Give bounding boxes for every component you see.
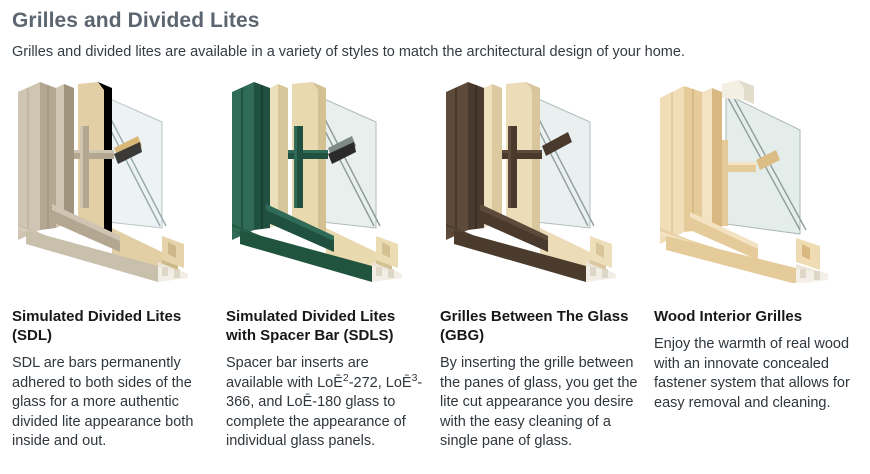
grilles-page: Grilles and Divided Lites Grilles and di… [0,0,870,474]
window-corner-sdls-green-image [226,78,424,283]
product-body-sdls: Spacer bar inserts are available with Lo… [226,345,424,452]
window-corner-illustration [440,78,638,283]
window-corner-gbg-brown-image [440,78,638,283]
product-column-gbg: Grilles Between The Glass (GBG) By inser… [440,78,654,452]
product-heading-sdl: Simulated Divided Lites (SDL) [12,283,210,345]
product-body-gbg: By inserting the grille between the pane… [440,345,638,452]
window-corner-sdl-tan-image [12,78,210,283]
product-column-sdls: Simulated Divided Lites with Spacer Bar … [226,78,440,452]
page-intro-text: Grilles and divided lites are available … [12,34,858,61]
product-column-wood: Wood Interior Grilles Enjoy the warmth o… [654,78,858,452]
window-corner-wood-natural-image [654,78,852,283]
window-corner-illustration [226,78,424,283]
product-body-wood: Enjoy the warmth of real wood with an in… [654,326,858,413]
page-title: Grilles and Divided Lites [12,0,858,34]
product-body-sdl: SDL are bars permanently adhered to both… [12,345,210,452]
product-heading-sdls: Simulated Divided Lites with Spacer Bar … [226,283,424,345]
window-corner-illustration [12,78,210,283]
product-column-sdl: Simulated Divided Lites (SDL) SDL are ba… [12,78,226,452]
product-heading-gbg: Grilles Between The Glass (GBG) [440,283,638,345]
product-columns: Simulated Divided Lites (SDL) SDL are ba… [12,78,858,452]
product-heading-wood: Wood Interior Grilles [654,283,858,326]
window-corner-illustration [654,78,852,283]
